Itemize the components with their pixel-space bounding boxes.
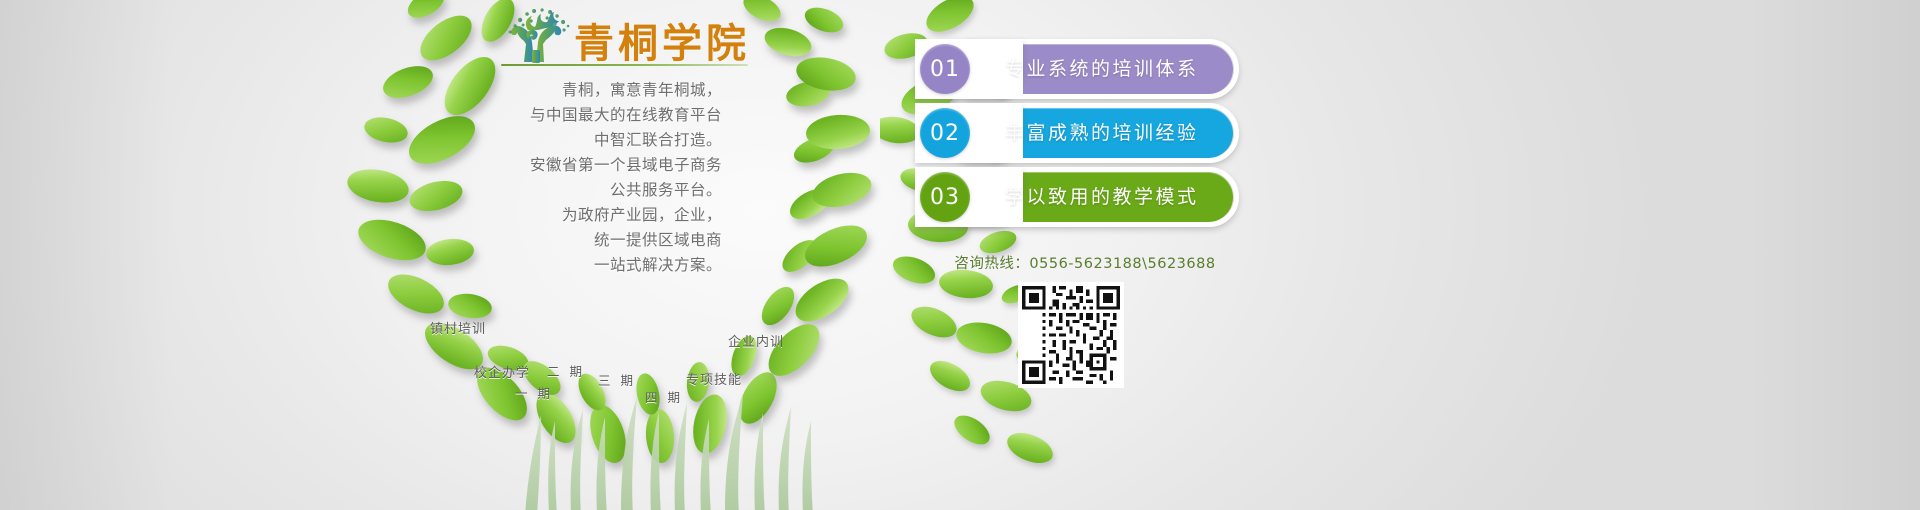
description-line: 安徽省第一个县域电子商务 (430, 153, 722, 178)
feature-banner-list: 01 专业系统的培训体系 02 丰富成熟的培训经验 03 学以致用的教学模式 (915, 44, 1245, 236)
logo-divider (501, 64, 748, 66)
banner-label: 学以致用的教学模式 (1005, 172, 1199, 222)
description-line: 与中国最大的在线教育平台 (430, 103, 722, 128)
description-line: 统一提供区域电商 (430, 228, 722, 253)
bottom-label-phase-3: 三 期 (598, 370, 636, 389)
bottom-label-zhencun: 镇村培训 (430, 318, 486, 337)
bottom-label-xiaoqi: 校企办学 (474, 362, 530, 381)
feature-banner-01[interactable]: 01 专业系统的培训体系 (915, 44, 1233, 94)
banner-label: 丰富成熟的培训经验 (1005, 108, 1199, 158)
banner-number-badge: 03 (920, 172, 970, 222)
qr-code[interactable] (1018, 282, 1124, 388)
description-line: 青桐，寓意青年桐城， (430, 78, 722, 103)
logo-block: 青桐学院 (498, 6, 758, 68)
bottom-label-phase-2: 二 期 (547, 361, 585, 380)
banner-stage: 青桐学院 青桐，寓意青年桐城， 与中国最大的在线教育平台 中智汇联合打造。 安徽… (0, 0, 1920, 510)
banner-label: 专业系统的培训体系 (1005, 44, 1199, 94)
feature-banner-03[interactable]: 03 学以致用的教学模式 (915, 172, 1233, 222)
bottom-label-zhuanxiang: 专项技能 (686, 369, 742, 388)
tree-icon (498, 8, 574, 64)
description-line: 公共服务平台。 (430, 178, 722, 203)
hotline-text: 咨询热线：0556-5623188\5623688 (920, 252, 1250, 273)
bottom-label-qiye: 企业内训 (728, 331, 784, 350)
bottom-label-phase-1: 一 期 (515, 383, 553, 402)
bottom-label-phase-4: 四 期 (645, 387, 683, 406)
description-line: 为政府产业园，企业， (430, 203, 722, 228)
description-line: 一站式解决方案。 (430, 253, 722, 278)
description-block: 青桐，寓意青年桐城， 与中国最大的在线教育平台 中智汇联合打造。 安徽省第一个县… (430, 78, 722, 278)
banner-number-badge: 01 (920, 44, 970, 94)
description-line: 中智汇联合打造。 (430, 128, 722, 153)
logo-title: 青桐学院 (574, 11, 750, 69)
banner-number-badge: 02 (920, 108, 970, 158)
feature-banner-02[interactable]: 02 丰富成熟的培训经验 (915, 108, 1233, 158)
